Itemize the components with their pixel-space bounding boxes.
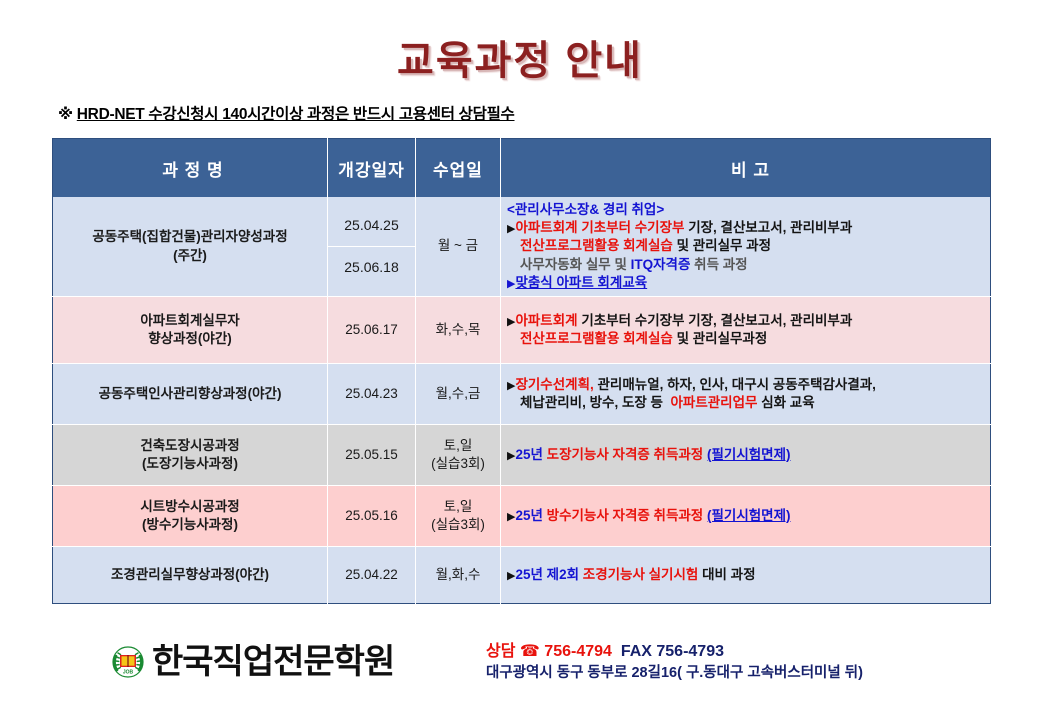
course-name-line-1: 아파트회계실무자: [59, 312, 321, 330]
course-table-wrap: 과 정 명 개강일자 수업일 비 고 공동주택(집합건물)관리자양성과정 (주간…: [52, 138, 990, 604]
remark-line: 맞춤식 아파트 회계교육: [515, 275, 647, 290]
svg-text:JOB: JOB: [123, 670, 134, 676]
remark-line: ITQ자격증: [631, 257, 691, 272]
course-name-line-2: (도장기능사과정): [59, 455, 321, 473]
remark-line: 체납관리비, 방수, 도장 등: [520, 395, 663, 410]
institute-name: 한국직업전문학원: [152, 645, 394, 679]
remark-line: 전산프로그램활용 회계실습: [520, 331, 673, 346]
header-class-days: 수업일: [416, 139, 501, 198]
course-name-line-1: 조경관리실무향상과정(야간): [59, 566, 321, 584]
cell-course-name: 조경관리실무향상과정(야간): [53, 547, 328, 604]
footer: JOB 한국직업전문학원 상담 ☎ 756-4794 FAX 756-4793 …: [0, 636, 1040, 720]
class-days-line-2: (실습3회): [422, 516, 494, 534]
start-date-first: 25.04.25: [328, 205, 415, 247]
cell-class-days: 월,수,금: [416, 364, 501, 425]
cell-start-date: 25.05.16: [328, 486, 416, 547]
remark-line: 심화 교육: [761, 395, 814, 410]
cell-course-name: 건축도장시공과정 (도장기능사과정): [53, 425, 328, 486]
notice-line: ※HRD-NET 수강신청시 140시간이상 과정은 반드시 고용센터 상담필수: [58, 102, 1040, 124]
cell-remarks: ▶25년 방수기능사 자격증 취득과정 (필기시험면제): [501, 486, 991, 547]
remark-line: 아파트회계: [515, 313, 577, 328]
notice-text: HRD-NET 수강신청시 140시간이상 과정은 반드시 고용센터 상담필수: [77, 106, 515, 123]
remark-line: 아파트회계 기초부터 수기장부: [515, 220, 684, 235]
course-name-line-1: 공동주택인사관리향상과정(야간): [59, 385, 321, 403]
remark-line: 25년: [515, 447, 542, 462]
remark-line: 및 관리실무과정: [677, 331, 768, 346]
cell-remarks: ▶25년 제2회 조경기능사 실기시험 대비 과정: [501, 547, 991, 604]
telephone-icon: ☎: [520, 643, 540, 660]
fax-number: FAX 756-4793: [621, 643, 724, 660]
phone-number: 756-4794: [544, 643, 612, 660]
table-row: 건축도장시공과정 (도장기능사과정) 25.05.15 토,일 (실습3회) ▶…: [53, 425, 991, 486]
cell-course-name: 시트방수시공과정 (방수기능사과정): [53, 486, 328, 547]
remark-line: <관리사무소장& 경리 취업>: [507, 201, 984, 219]
header-course-name: 과 정 명: [53, 139, 328, 198]
table-row: 공동주택(집합건물)관리자양성과정 (주간) 25.04.25 25.06.18…: [53, 197, 991, 297]
remark-line: 기장, 결산보고서, 관리비부과: [688, 220, 852, 235]
cell-class-days: 월,화,수: [416, 547, 501, 604]
course-name-line-2: (주간): [59, 247, 321, 265]
remark-line: 장기수선계획,: [515, 377, 593, 392]
remark-line: 25년 제2회: [515, 567, 579, 582]
cell-course-name: 공동주택인사관리향상과정(야간): [53, 364, 328, 425]
remark-line: 기초부터 수기장부 기장, 결산보고서, 관리비부과: [581, 313, 852, 328]
reference-mark-icon: ※: [58, 106, 73, 123]
consult-label: 상담: [486, 643, 515, 660]
class-days-text: 월,화,수: [436, 567, 481, 582]
table-header-row: 과 정 명 개강일자 수업일 비 고: [53, 139, 991, 198]
class-days-line-2: (실습3회): [422, 455, 494, 473]
cell-class-days: 월 ~ 금: [416, 197, 501, 297]
remark-line: 도장기능사 자격증 취득과정: [547, 447, 704, 462]
cell-start-date: 25.04.23: [328, 364, 416, 425]
cell-start-date: 25.04.22: [328, 547, 416, 604]
table-row: 아파트회계실무자 향상과정(야간) 25.06.17 화,수,목 ▶아파트회계 …: [53, 297, 991, 364]
cell-start-date: 25.04.25 25.06.18: [328, 197, 416, 297]
cell-remarks: ▶아파트회계 기초부터 수기장부 기장, 결산보고서, 관리비부과 전산프로그램…: [501, 297, 991, 364]
class-days-line-1: 토,일: [422, 437, 494, 455]
course-name-line-1: 시트방수시공과정: [59, 498, 321, 516]
remark-line: 아파트관리업무: [670, 395, 757, 410]
table-row: 공동주택인사관리향상과정(야간) 25.04.23 월,수,금 ▶장기수선계획,…: [53, 364, 991, 425]
cell-remarks: ▶25년 도장기능사 자격증 취득과정 (필기시험면제): [501, 425, 991, 486]
laurel-book-emblem-icon: JOB: [110, 644, 146, 680]
cell-remarks: ▶장기수선계획, 관리매뉴얼, 하자, 인사, 대구시 공동주택감사결과, 체납…: [501, 364, 991, 425]
cell-start-date: 25.06.17: [328, 297, 416, 364]
address-line: 대구광역시 동구 동부로 28길16( 구.동대구 고속버스터미널 뒤): [486, 663, 863, 685]
course-name-line-1: 건축도장시공과정: [59, 437, 321, 455]
institute-logo: JOB 한국직업전문학원: [110, 644, 394, 680]
start-date-second: 25.06.18: [328, 247, 415, 288]
remark-line: 25년: [515, 508, 542, 523]
start-date-first: 25.06.17: [345, 322, 398, 337]
contact-block: 상담 ☎ 756-4794 FAX 756-4793 대구광역시 동구 동부로 …: [486, 640, 863, 685]
course-name-line-2: 향상과정(야간): [59, 330, 321, 348]
remark-line: 사무자동화 실무 및: [520, 257, 627, 272]
remark-line: (필기시험면제): [707, 447, 791, 462]
remark-line: (필기시험면제): [707, 508, 791, 523]
remark-line: 취득 과정: [694, 257, 747, 272]
course-name-line-2: (방수기능사과정): [59, 516, 321, 534]
class-days-text: 월 ~ 금: [438, 238, 478, 253]
remark-line: 관리매뉴얼, 하자, 인사, 대구시 공동주택감사결과,: [598, 377, 876, 392]
cell-class-days: 화,수,목: [416, 297, 501, 364]
start-date-first: 25.04.22: [345, 567, 398, 582]
start-date-first: 25.05.16: [345, 508, 398, 523]
remark-line: 조경기능사 실기시험: [583, 567, 699, 582]
cell-course-name: 공동주택(집합건물)관리자양성과정 (주간): [53, 197, 328, 297]
start-date-first: 25.05.15: [345, 447, 398, 462]
cell-class-days: 토,일 (실습3회): [416, 425, 501, 486]
class-days-line-1: 토,일: [422, 498, 494, 516]
cell-course-name: 아파트회계실무자 향상과정(야간): [53, 297, 328, 364]
page-title: 교육과정 안내: [397, 28, 643, 86]
header-start-date: 개강일자: [328, 139, 416, 198]
course-table: 과 정 명 개강일자 수업일 비 고 공동주택(집합건물)관리자양성과정 (주간…: [52, 138, 991, 604]
class-days-text: 월,수,금: [436, 386, 481, 401]
course-name-line-1: 공동주택(집합건물)관리자양성과정: [59, 228, 321, 246]
cell-remarks: <관리사무소장& 경리 취업> ▶아파트회계 기초부터 수기장부 기장, 결산보…: [501, 197, 991, 297]
cell-class-days: 토,일 (실습3회): [416, 486, 501, 547]
start-date-first: 25.04.23: [345, 386, 398, 401]
table-row: 조경관리실무향상과정(야간) 25.04.22 월,화,수 ▶25년 제2회 조…: [53, 547, 991, 604]
cell-start-date: 25.05.15: [328, 425, 416, 486]
header-remarks: 비 고: [501, 139, 991, 198]
remark-line: 방수기능사 자격증 취득과정: [547, 508, 704, 523]
remark-line: 및 관리실무 과정: [677, 238, 771, 253]
title-area: 교육과정 안내: [0, 0, 1040, 86]
table-row: 시트방수시공과정 (방수기능사과정) 25.05.16 토,일 (실습3회) ▶…: [53, 486, 991, 547]
remark-line: 대비 과정: [702, 567, 755, 582]
remark-line: 전산프로그램활용 회계실습: [520, 238, 673, 253]
class-days-text: 화,수,목: [436, 322, 481, 337]
